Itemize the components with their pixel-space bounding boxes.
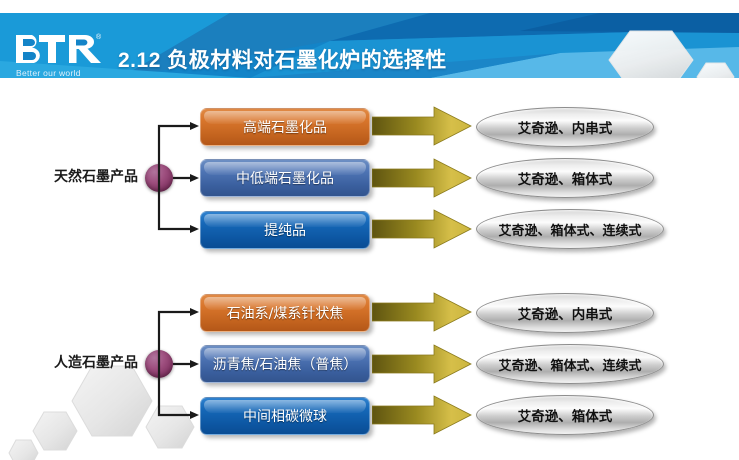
result-oval[interactable]: 艾奇逊、内串式 [476,293,654,333]
process-box[interactable]: 沥青焦/石油焦（普焦） [200,345,370,383]
result-oval-label: 艾奇逊、内串式 [518,117,613,137]
result-oval[interactable]: 艾奇逊、内串式 [476,107,654,147]
result-oval-label: 艾奇逊、箱体式 [518,168,613,188]
process-box-label: 提纯品 [264,220,306,240]
process-box[interactable]: 中低端石墨化品 [200,159,370,197]
process-box-label: 沥青焦/石油焦（普焦） [213,354,358,374]
arrow-right-icon [372,207,472,251]
logo-tagline: Better our world [16,68,81,78]
arrow-right-icon [372,393,472,437]
result-oval[interactable]: 艾奇逊、箱体式 [476,395,654,435]
registered-mark-icon: ® [96,34,101,41]
process-box[interactable]: 高端石墨化品 [200,108,370,146]
result-oval[interactable]: 艾奇逊、箱体式、连续式 [476,209,664,249]
process-box-label: 高端石墨化品 [243,117,327,137]
process-box-label: 中间相碳微球 [243,406,327,426]
btr-wordmark-icon [14,33,106,67]
diagram-group-artificial-graphite: 人造石墨产品 石油系/煤系针状焦 沥青焦/石油焦（普焦） 中间相碳微球 [0,282,739,457]
process-box[interactable]: 石油系/煤系针状焦 [200,294,370,332]
process-box[interactable]: 中间相碳微球 [200,397,370,435]
result-oval[interactable]: 艾奇逊、箱体式 [476,158,654,198]
result-oval-label: 艾奇逊、内串式 [518,303,613,323]
slide-header: ® Better our world 2.12 负极材料对石墨化炉的选择性 [0,13,739,78]
process-box[interactable]: 提纯品 [200,211,370,249]
slide-canvas: ® Better our world 2.12 负极材料对石墨化炉的选择性 天然… [0,0,739,460]
process-box-label: 中低端石墨化品 [236,168,334,188]
arrow-right-icon [372,104,472,148]
btr-logo: ® Better our world [14,33,114,78]
result-oval-label: 艾奇逊、箱体式、连续式 [498,355,641,374]
page-title: 2.12 负极材料对石墨化炉的选择性 [118,44,447,74]
arrow-right-icon [372,290,472,334]
result-oval-label: 艾奇逊、箱体式、连续式 [498,220,641,239]
process-box-label: 石油系/煤系针状焦 [227,303,344,323]
arrow-right-icon [372,342,472,386]
result-oval[interactable]: 艾奇逊、箱体式、连续式 [476,344,664,384]
diagram-group-natural-graphite: 天然石墨产品 高端石墨化品 中低端石墨化品 提纯品 [0,96,739,271]
result-oval-label: 艾奇逊、箱体式 [518,405,613,425]
arrow-right-icon [372,156,472,200]
